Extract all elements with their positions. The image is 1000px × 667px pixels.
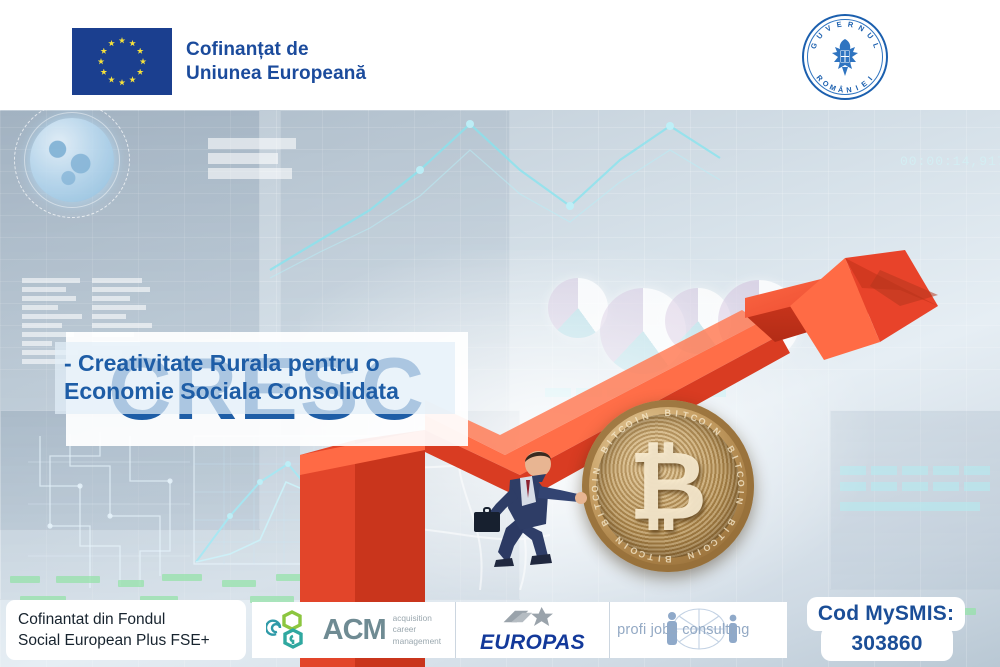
project-subtitle-line1: - Creativitate Rurala pentru o xyxy=(64,349,446,377)
profijobs-wordmark: profi jobs consulting xyxy=(617,622,749,638)
seal-letter: U xyxy=(814,31,825,41)
hero-artwork: 00:00:14,917 xyxy=(0,110,1000,667)
seal-letter: E xyxy=(836,20,843,30)
partner-logo-acm: ACM acquisition career management xyxy=(252,602,456,658)
eu-star-icon xyxy=(137,48,144,55)
eu-star-icon xyxy=(129,40,136,47)
bitcoin-rim-letter: I xyxy=(675,408,679,418)
eu-star-icon xyxy=(98,58,105,65)
bitcoin-rim-letter: C xyxy=(637,548,647,560)
acm-tagline-line1: acquisition xyxy=(393,613,441,624)
seal-letter: I xyxy=(854,83,859,92)
seal-letter: E xyxy=(860,79,870,89)
acm-tagline: acquisition career management xyxy=(393,613,441,647)
bitcoin-rim-letter: B xyxy=(665,554,672,564)
bitcoin-rim-letter: T xyxy=(682,410,690,421)
eagle-emblem-icon xyxy=(828,36,862,78)
eu-logo-text: Cofinanțat de Uniunea Europeană xyxy=(186,38,366,84)
businessman-figure xyxy=(462,432,592,572)
bitcoin-rim-letter: I xyxy=(695,547,702,557)
seal-letter: G xyxy=(809,41,820,50)
acm-spiral-icon xyxy=(266,610,316,650)
europas-star-icon xyxy=(498,607,568,626)
eu-star-icon xyxy=(100,69,107,76)
seal-center-shield xyxy=(828,36,862,78)
bitcoin-rim-letter: N xyxy=(711,426,723,438)
seal-letter: M xyxy=(828,82,837,93)
bitcoin-rim-letter: I xyxy=(634,415,641,425)
seal-letter: R xyxy=(847,20,854,30)
eu-star-icon xyxy=(119,37,126,44)
eu-logo-line2: Uniunea Europeană xyxy=(186,62,366,85)
funding-note-box: Cofinantat din Fondul Social European Pl… xyxy=(6,600,246,660)
profijobs-logo: profi jobs consulting xyxy=(611,607,786,653)
eu-star-icon xyxy=(108,76,115,83)
seal-letter: Â xyxy=(838,85,845,95)
funding-header: Cofinanțat de Uniunea Europeană GUVERNUL… xyxy=(0,0,1000,110)
mysmis-code-value-box: 303860 xyxy=(821,626,953,661)
acm-mark-icon xyxy=(266,610,316,650)
funding-note-line2: Social European Plus FSE+ xyxy=(18,630,246,651)
project-subtitle-line2: Economie Sociala Consolidata xyxy=(64,377,446,405)
eu-star-icon xyxy=(129,76,136,83)
bitcoin-rim-letter: O xyxy=(697,415,708,427)
bitcoin-coin-icon: BITCOINBITCOINBITCOINBITCOINBITCOINBITCO… xyxy=(582,400,754,572)
funding-note-line1: Cofinantat din Fondul xyxy=(18,609,246,630)
eu-star-icon xyxy=(108,40,115,47)
mysmis-label: Cod MySMIS: xyxy=(818,602,954,626)
bitcoin-rim-letter: T xyxy=(646,551,654,562)
seal-letter: L xyxy=(871,42,881,50)
eu-star-icon xyxy=(100,48,107,55)
romanian-government-seal-icon: GUVERNULROMÂNIEI xyxy=(802,14,888,100)
europas-logo: EUROPAS xyxy=(480,607,585,653)
eu-star-icon xyxy=(119,79,126,86)
acm-tagline-line3: management xyxy=(393,636,441,647)
poster-canvas: 00:00:14,917 xyxy=(0,0,1000,667)
bitcoin-rim-letter: I xyxy=(657,553,661,563)
bitcoin-rim-letter: N xyxy=(613,534,625,546)
eu-star-icon xyxy=(137,69,144,76)
partner-logo-profijobs: profi jobs consulting xyxy=(610,602,787,658)
seal-letter: I xyxy=(866,74,874,82)
mysmis-code: 303860 xyxy=(851,632,922,656)
eu-logo-line1: Cofinanțat de xyxy=(186,38,366,61)
europas-wordmark: EUROPAS xyxy=(480,632,585,653)
partner-logo-europas: EUROPAS xyxy=(456,602,611,658)
eu-flag-icon xyxy=(72,28,172,95)
acm-tagline-line2: career xyxy=(393,624,441,635)
partner-logo-strip: ACM acquisition career management EUROPA… xyxy=(252,602,787,658)
seal-letter: N xyxy=(857,23,866,34)
seal-letter: V xyxy=(824,23,833,33)
bitcoin-rim-letter: N xyxy=(641,411,651,423)
project-subtitle-box: - Creativitate Rurala pentru o Economie … xyxy=(55,342,455,414)
acm-wordmark: ACM xyxy=(323,616,386,645)
mysmis-code-box: Cod MySMIS: 303860 xyxy=(797,597,973,661)
eu-star-icon xyxy=(140,58,147,65)
bitcoin-rim-letter: N xyxy=(686,550,696,562)
bitcoin-rim-letter: B xyxy=(665,408,672,418)
eu-cofinancing-logo: Cofinanțat de Uniunea Europeană xyxy=(72,28,366,95)
bitcoin-symbol: ₿ xyxy=(582,438,754,534)
acm-logo: ACM acquisition career management xyxy=(266,610,441,650)
seal-letter: U xyxy=(865,31,876,41)
seal-letter: N xyxy=(846,85,853,95)
